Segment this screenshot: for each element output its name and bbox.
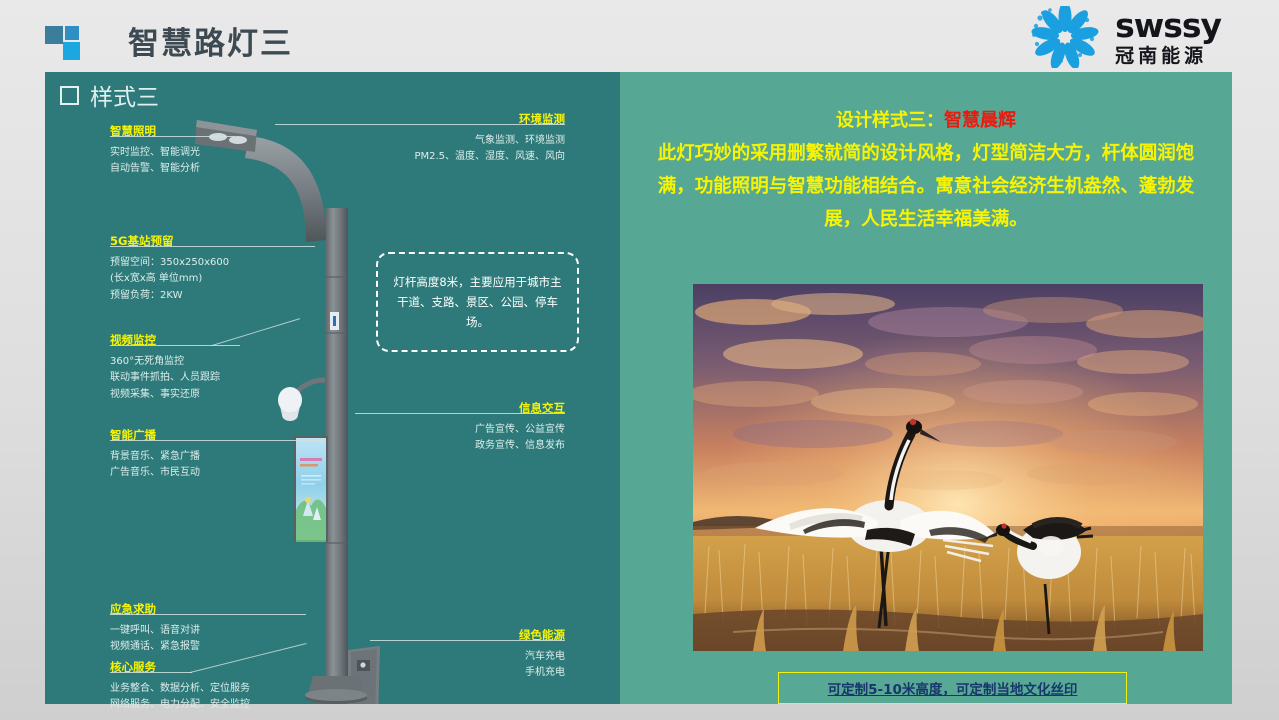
feature-title: 信息交互 bbox=[519, 399, 565, 419]
slide-header: 智慧路灯三 bbox=[0, 0, 1279, 72]
feature-title: 智能广播 bbox=[110, 426, 156, 446]
feature-视频监控: 视频监控 360°无死角监控 联动事件抓拍、人员跟踪 视频采集、事实还原 bbox=[110, 331, 220, 403]
blue-petal-flower-icon bbox=[1025, 6, 1105, 68]
brand-name-cn: 冠南能源 bbox=[1115, 47, 1207, 66]
feature-line: 预留空间：350x250x600 bbox=[110, 255, 229, 272]
feature-rule bbox=[370, 640, 565, 641]
feature-line: 背景音乐、紧急广播 bbox=[110, 449, 200, 466]
crane-sunset-photo bbox=[693, 284, 1203, 651]
right-content-panel: 设计样式三：智慧晨辉 此灯巧妙的采用删繁就简的设计风格，灯型简洁大方，杆体圆润饱… bbox=[620, 72, 1232, 704]
square-bullet-icon bbox=[60, 86, 79, 105]
callout-text: 灯杆高度8米，主要应用于城市主干道、支路、景区、公园、停车场。 bbox=[390, 272, 565, 332]
feature-title: 绿色能源 bbox=[519, 626, 565, 646]
customization-caption-box: 可定制5-10米高度，可定制当地文化丝印 bbox=[778, 672, 1127, 704]
feature-信息交互: 信息交互 广告宣传、公益宣传 政务宣传、信息发布 bbox=[400, 399, 565, 455]
feature-rule bbox=[275, 124, 565, 125]
feature-line: 业务整合、数据分析、定位服务 bbox=[110, 681, 250, 698]
feature-line: 气象监测、环境监测 bbox=[380, 133, 565, 150]
brand-logo: swssy 冠南能源 bbox=[1025, 6, 1221, 68]
feature-title: 环境监测 bbox=[519, 110, 565, 130]
feature-title: 核心服务 bbox=[110, 658, 156, 678]
feature-line: 自动告警、智能分析 bbox=[110, 161, 200, 178]
feature-line: 联动事件抓拍、人员跟踪 bbox=[110, 370, 220, 387]
feature-环境监测: 环境监测 气象监测、环境监测 PM2.5、温度、湿度、风速、风向 bbox=[380, 110, 565, 166]
feature-title: 应急求助 bbox=[110, 600, 156, 620]
feature-line: 网络服务、电力分配、安全监控 bbox=[110, 697, 250, 714]
design-style-title-accent: 智慧晨辉 bbox=[944, 110, 1016, 131]
design-description: 此灯巧妙的采用删繁就简的设计风格，灯型简洁大方，杆体圆润饱满，功能照明与智慧功能… bbox=[642, 138, 1210, 237]
feature-核心服务: 核心服务 业务整合、数据分析、定位服务 网络服务、电力分配、安全监控 bbox=[110, 658, 250, 714]
feature-绿色能源: 绿色能源 汽车充电 手机充电 bbox=[420, 626, 565, 682]
feature-title: 智慧照明 bbox=[110, 122, 156, 142]
feature-rule bbox=[110, 246, 315, 247]
feature-line: 广告宣传、公益宣传 bbox=[400, 422, 565, 439]
feature-title: 视频监控 bbox=[110, 331, 156, 351]
feature-line: 视频采集、事实还原 bbox=[110, 387, 220, 404]
feature-rule bbox=[110, 136, 235, 137]
feature-line: 预留负荷：2KW bbox=[110, 288, 229, 305]
feature-line: 广告音乐、市民互动 bbox=[110, 465, 200, 482]
feature-rule bbox=[110, 614, 306, 615]
feature-line: 视频通话、紧急报警 bbox=[110, 639, 200, 656]
feature-line: 实时监控、智能调光 bbox=[110, 145, 200, 162]
design-style-title: 设计样式三：智慧晨辉 bbox=[620, 106, 1232, 132]
feature-line: 一键呼叫、语音对讲 bbox=[110, 623, 200, 640]
left-panel-heading: 样式三 bbox=[60, 78, 159, 112]
blue-squares-icon bbox=[45, 26, 91, 60]
feature-5G基站预留: 5G基站预留 预留空间：350x250x600 (长x宽x高 单位mm) 预留负… bbox=[110, 232, 229, 304]
feature-rule bbox=[110, 345, 240, 346]
feature-line: (长x宽x高 单位mm) bbox=[110, 271, 229, 288]
feature-rule bbox=[355, 413, 565, 414]
customization-caption-text: 可定制5-10米高度，可定制当地文化丝印 bbox=[828, 678, 1078, 698]
brand-name-en: swssy bbox=[1115, 9, 1221, 42]
feature-title: 5G基站预留 bbox=[110, 232, 173, 252]
left-panel-heading-text: 样式三 bbox=[90, 78, 159, 112]
feature-应急求助: 应急求助 一键呼叫、语音对讲 视频通话、紧急报警 bbox=[110, 600, 200, 656]
feature-line: PM2.5、温度、湿度、风速、风向 bbox=[380, 149, 565, 166]
height-application-callout: 灯杆高度8米，主要应用于城市主干道、支路、景区、公园、停车场。 bbox=[376, 252, 579, 352]
feature-rule bbox=[110, 440, 325, 441]
design-style-title-prefix: 设计样式三： bbox=[836, 110, 944, 131]
feature-line: 政务宣传、信息发布 bbox=[400, 438, 565, 455]
feature-智慧照明: 智慧照明 实时监控、智能调光 自动告警、智能分析 bbox=[110, 122, 200, 178]
feature-智能广播: 智能广播 背景音乐、紧急广播 广告音乐、市民互动 bbox=[110, 426, 200, 482]
feature-line: 汽车充电 bbox=[420, 649, 565, 666]
feature-line: 360°无死角监控 bbox=[110, 354, 220, 371]
feature-rule bbox=[110, 672, 192, 673]
slide-root: 智慧路灯三 bbox=[0, 0, 1279, 720]
page-title: 智慧路灯三 bbox=[128, 18, 293, 63]
feature-line: 手机充电 bbox=[420, 665, 565, 682]
